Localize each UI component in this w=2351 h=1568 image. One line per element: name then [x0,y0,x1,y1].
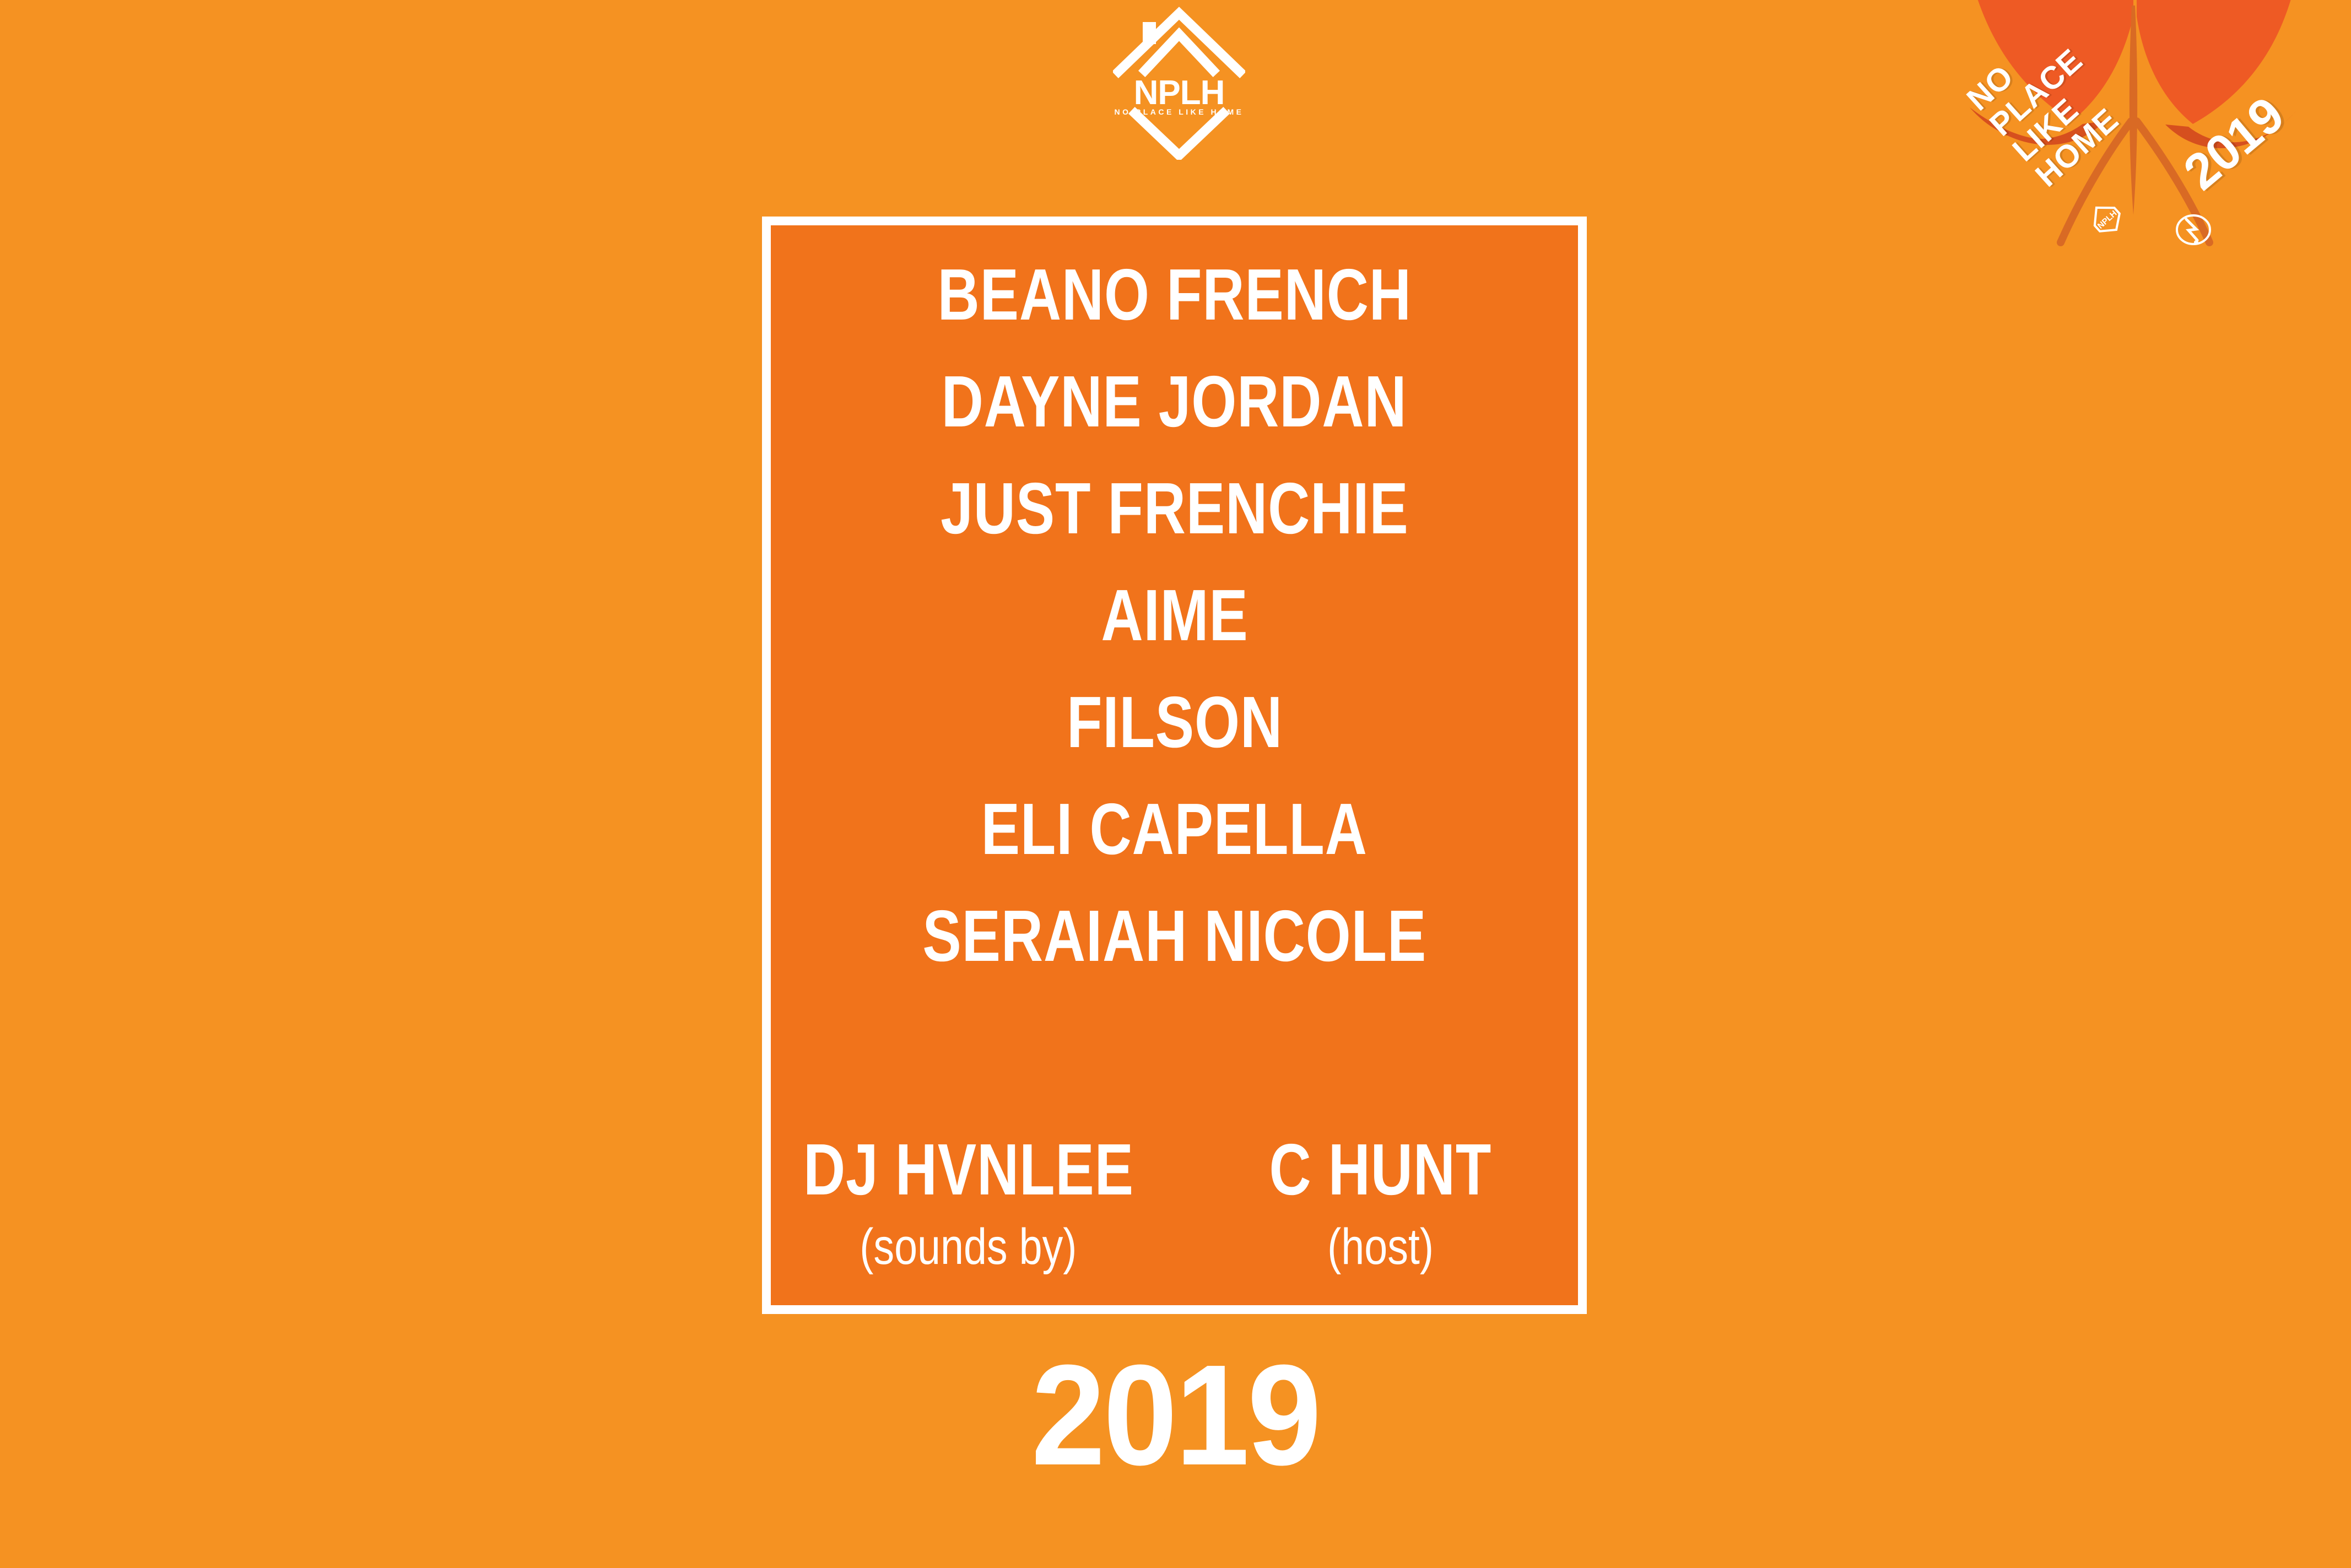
butterfly-body [2130,6,2137,215]
list-item: ELI CAPELLA [981,793,1368,866]
svg-text:NPLH: NPLH [2096,209,2119,231]
lineup-box: BEANO FRENCH DAYNE JORDAN JUST FRENCHIE … [762,217,1587,1314]
butterfly-badge-icon [1917,0,2351,292]
logo-diamond-outline [1118,13,1240,72]
nplh-logo: NPLH NO PLACE LIKE HOME [1113,6,1245,160]
lineup-list: BEANO FRENCH DAYNE JORDAN JUST FRENCHIE … [771,258,1578,1007]
footer-venue: THE FOUNDRY [1006,1484,1345,1542]
list-item: DAYNE JORDAN [942,365,1407,438]
footer-year: 2019 [1031,1353,1320,1479]
poster-root: NPLH NO PLACE LIKE HOME NO PLACE LIKE HO… [0,0,2351,1568]
credit-role: (sounds by) [860,1221,1077,1272]
logo-diamond-bottom [1135,113,1223,155]
logo-tagline: NO PLACE LIKE HOME [1113,108,1245,116]
credit-sounds-by: DJ HVNLEE (sounds by) [793,1133,1144,1272]
list-item: AIME [1101,579,1248,652]
badge-circular-emblem-icon [2172,208,2215,251]
credits-row: DJ HVNLEE (sounds by) C HUNT (host) [771,1133,1578,1272]
credit-name: DJ HVNLEE [803,1133,1134,1206]
credit-role: (host) [1327,1221,1434,1272]
list-item: SERAIAH NICOLE [922,900,1426,972]
credit-name: C HUNT [1269,1133,1492,1206]
list-item: BEANO FRENCH [937,258,1411,331]
logo-wordmark: NPLH [1113,76,1245,110]
footer-block: 2019 THE FOUNDRY [0,1353,2351,1542]
list-item: JUST FRENCHIE [941,472,1408,545]
logo-chimney [1143,22,1156,44]
list-item: FILSON [1066,686,1282,759]
credit-host: C HUNT (host) [1205,1133,1556,1272]
